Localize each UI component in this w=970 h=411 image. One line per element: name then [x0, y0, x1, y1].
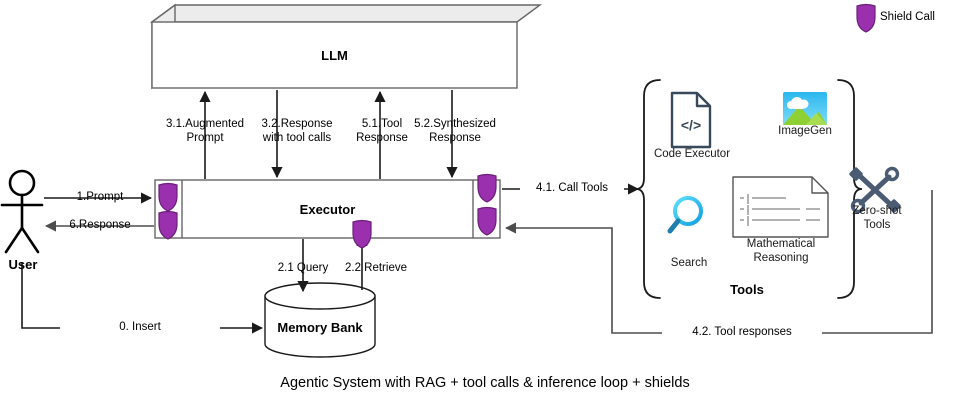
legend-label: Shield Call	[880, 11, 966, 25]
code-document-icon[interactable]: </>	[672, 93, 710, 147]
edge-label-insert: 0. Insert	[60, 321, 220, 335]
image-picture-icon[interactable]	[783, 92, 827, 125]
shield-executor-out-top[interactable]	[478, 175, 496, 203]
tool-label-search: Search	[653, 257, 725, 271]
memory-bank-label: Memory Bank	[265, 320, 375, 335]
user-label: User	[0, 257, 46, 272]
edge-label-response: 6.Response	[52, 219, 148, 233]
edge-insert	[22, 262, 262, 328]
shield-legend-icon	[857, 5, 875, 33]
diagram-caption: Agentic System with RAG + tool calls & i…	[0, 377, 970, 391]
shield-executor-out-bottom[interactable]	[478, 208, 496, 236]
svg-text:</>: </>	[681, 117, 701, 133]
tool-label-math-reasoning: Mathematical Reasoning	[726, 238, 836, 265]
edge-label-synthesized-response: 5.2.Synthesized Response	[400, 118, 510, 145]
tool-label-imagegen: ImageGen	[760, 125, 850, 139]
tool-label-zero-shot: Zero-shot Tools	[836, 205, 918, 232]
executor-label: Executor	[182, 202, 473, 217]
edge-label-response-tool-calls: 3.2.Response with tool calls	[238, 118, 356, 145]
node-llm[interactable]	[152, 5, 540, 88]
shield-executor-in-top[interactable]	[159, 184, 177, 212]
formula-document-icon[interactable]	[733, 177, 828, 237]
edge-label-retrieve: 2.2 Retrieve	[330, 262, 422, 276]
node-user[interactable]	[2, 171, 42, 252]
edge-label-tool-responses: 4.2. Tool responses	[662, 326, 822, 340]
tools-group-label: Tools	[684, 282, 810, 297]
shield-executor-in-bottom[interactable]	[159, 212, 177, 240]
edge-label-call-tools: 4.1. Call Tools	[520, 182, 624, 196]
tool-label-code-executor: Code Executor	[637, 148, 747, 162]
magnifier-icon[interactable]	[670, 198, 701, 231]
llm-label: LLM	[152, 48, 517, 63]
shield-memory[interactable]	[353, 221, 371, 249]
edge-label-prompt: 1.Prompt	[52, 191, 148, 205]
